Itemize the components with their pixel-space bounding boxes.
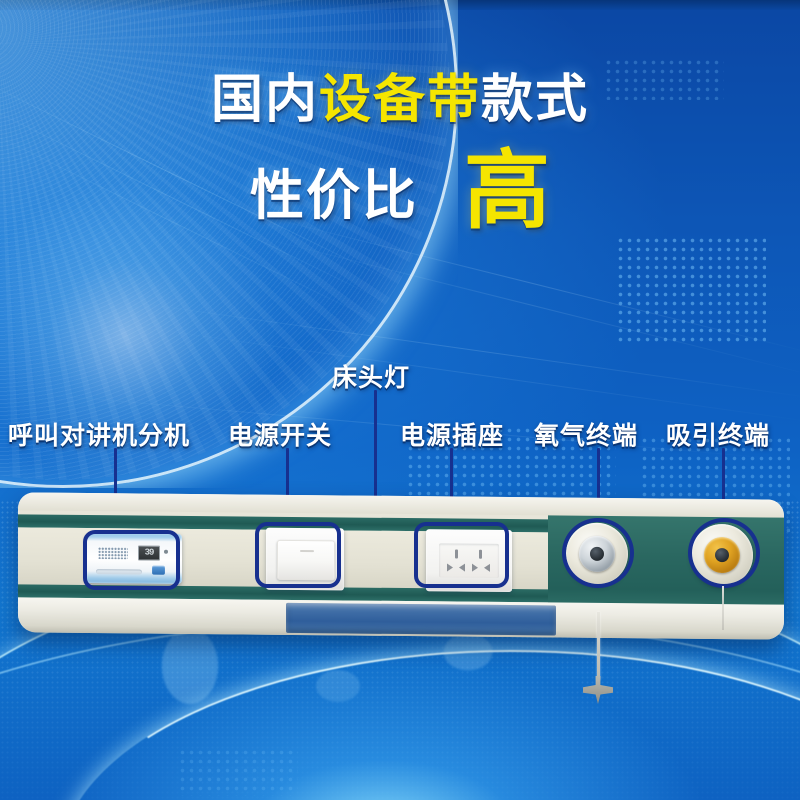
highlight-power-socket <box>414 522 509 588</box>
callout-label-suction: 吸引终端 <box>666 416 770 452</box>
highlight-oxygen <box>562 518 634 588</box>
highlight-power-switch <box>255 522 341 588</box>
highlight-intercom <box>83 530 180 590</box>
pull-cord[interactable] <box>597 612 600 680</box>
bed-lamp-diffuser[interactable] <box>286 603 556 636</box>
suction-pull-cord[interactable] <box>722 586 724 630</box>
callout-label-power-switch: 电源开关 <box>228 416 332 452</box>
callout-label-intercom: 呼叫对讲机分机 <box>8 416 190 452</box>
callout-label-oxygen: 氧气终端 <box>534 416 638 452</box>
callout-group: 呼叫对讲机分机 电源开关 床头灯 电源插座 氧气终端 吸引终端 <box>0 0 800 800</box>
callout-label-power-socket: 电源插座 <box>400 416 504 452</box>
banner-canvas: 国内设备带款式 性价比高 呼叫对讲机分机 电源开关 床头灯 电源插座 氧气终端 … <box>0 0 800 800</box>
panel-top-cap <box>18 492 784 517</box>
highlight-suction <box>688 518 760 588</box>
callout-label-bed-lamp: 床头灯 <box>332 358 410 394</box>
